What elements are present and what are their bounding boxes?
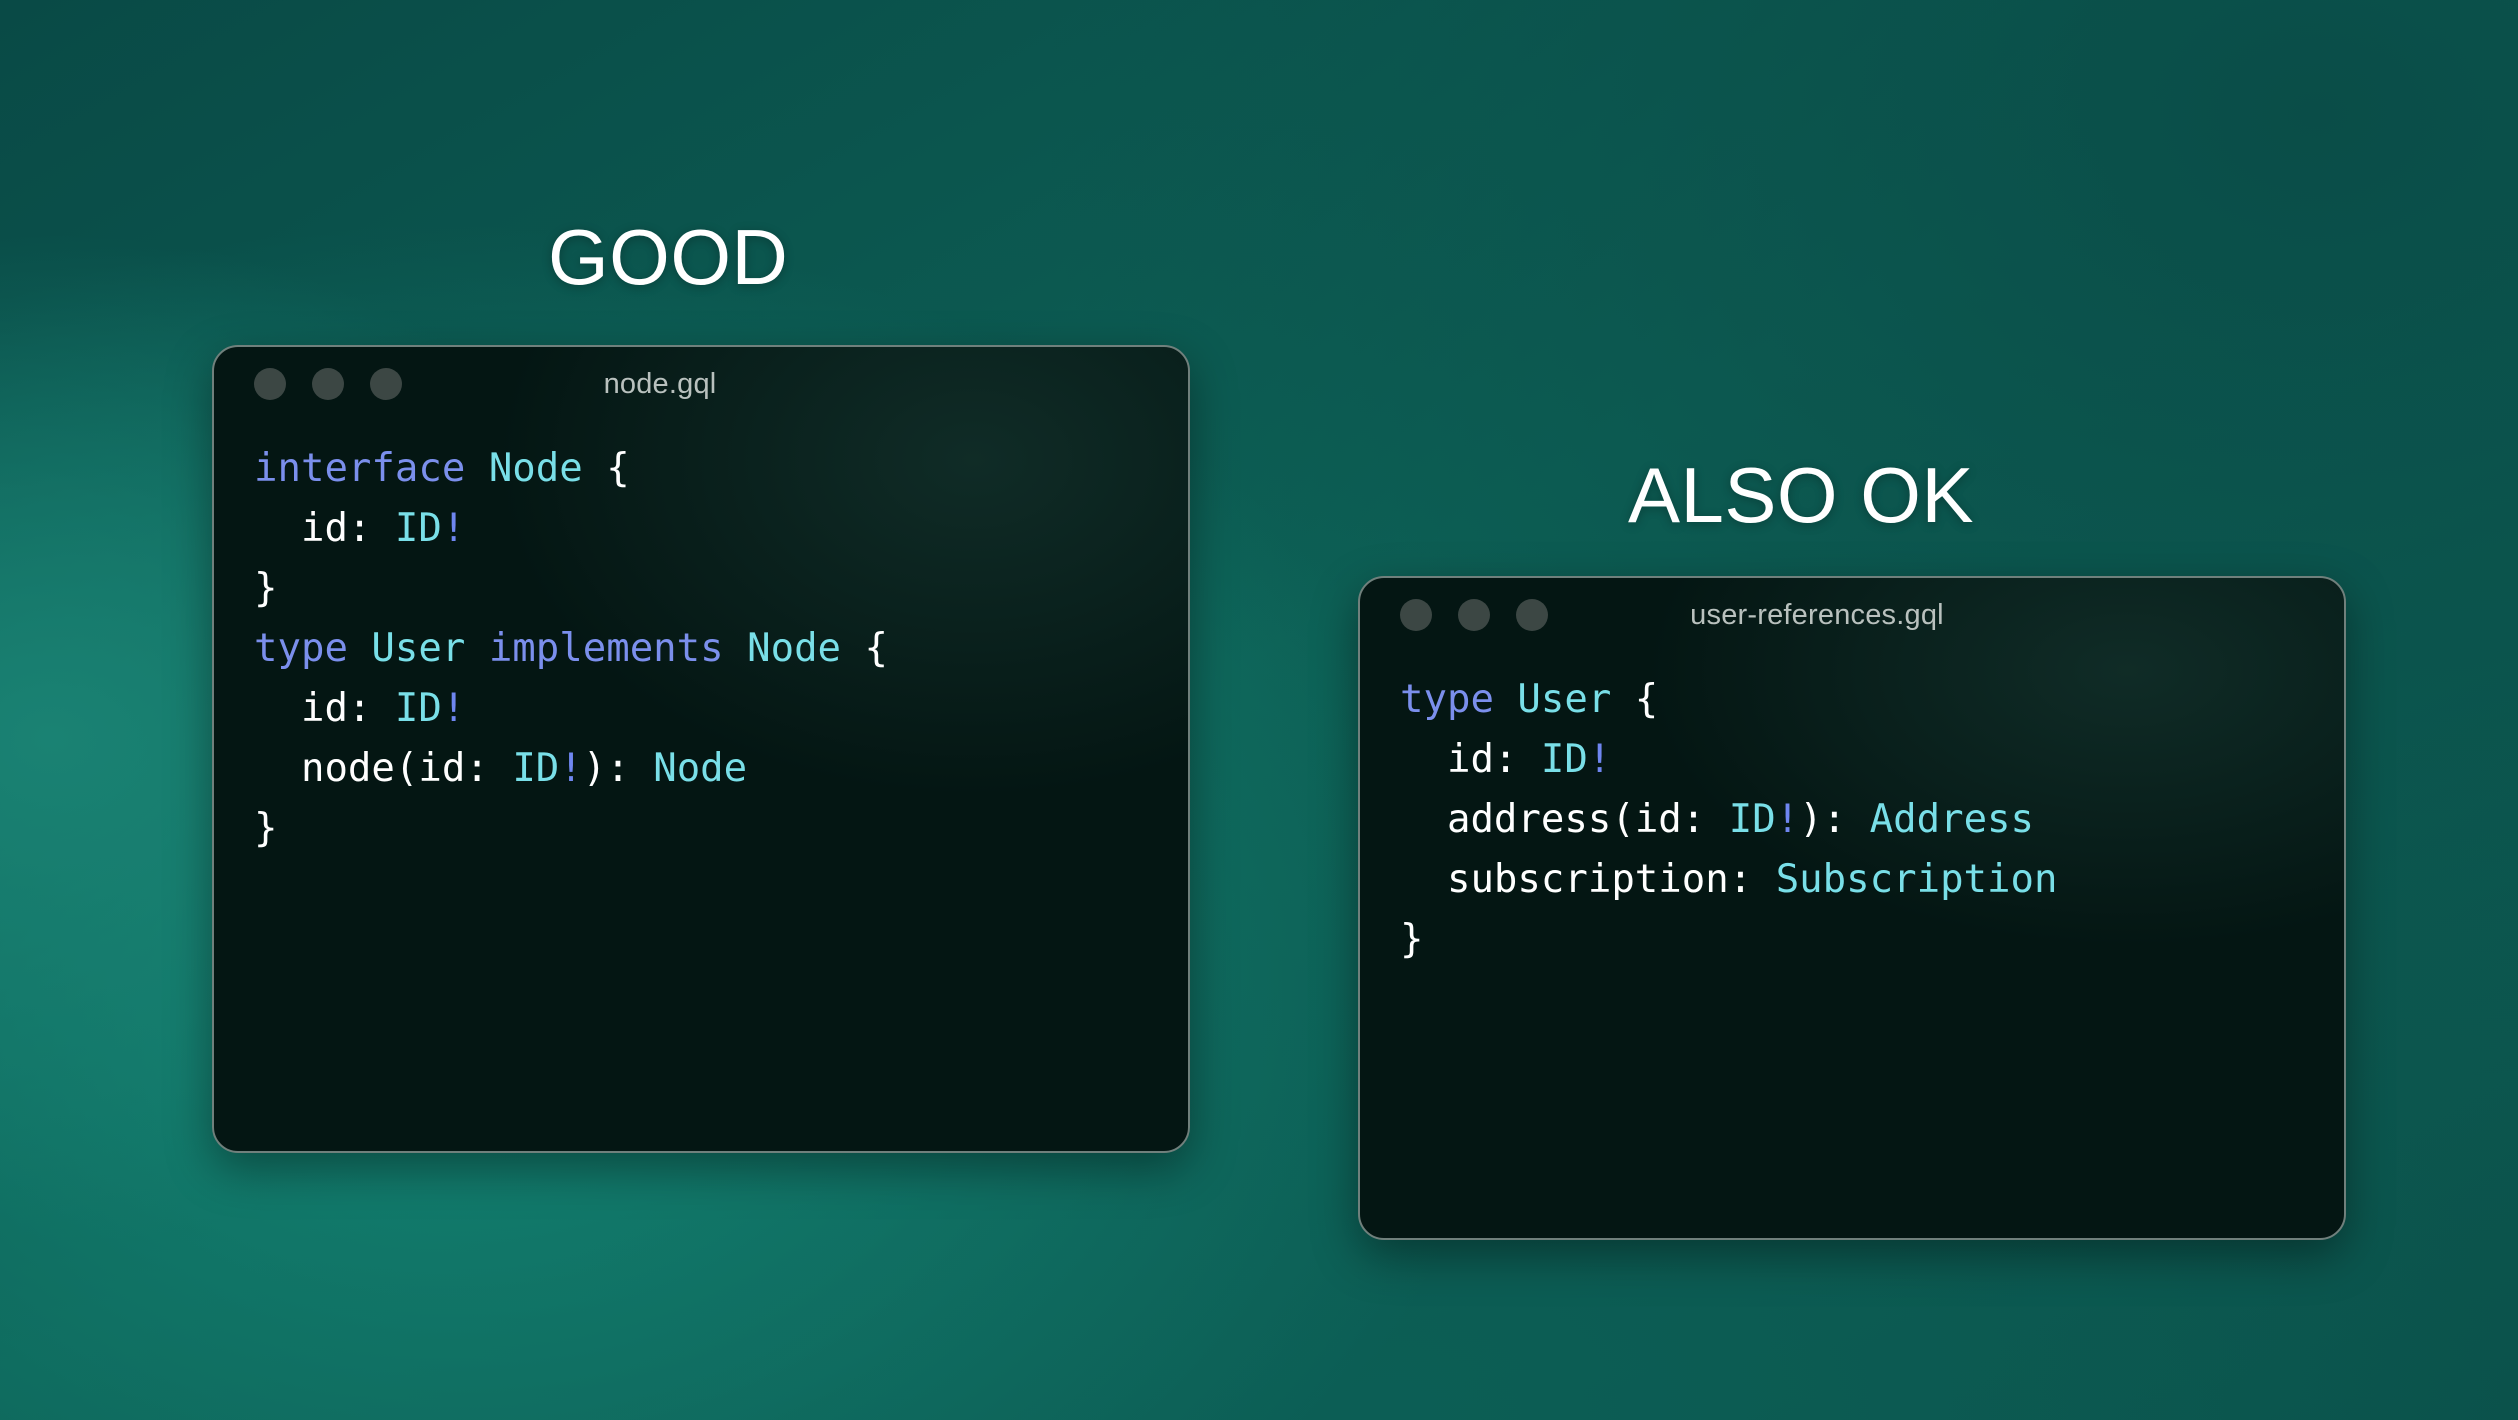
code-token: ID xyxy=(395,506,442,551)
traffic-light-dots xyxy=(254,368,402,400)
code-token: node xyxy=(254,746,395,791)
code-line: } xyxy=(254,799,1148,859)
code-line: } xyxy=(1400,910,2304,970)
code-token xyxy=(465,446,488,491)
code-token: { xyxy=(841,626,888,671)
traffic-light-dots xyxy=(1400,599,1548,631)
code-token: } xyxy=(254,806,277,851)
code-token: interface xyxy=(254,446,465,491)
code-line: address(id: ID!): Address xyxy=(1400,790,2304,850)
code-token: { xyxy=(583,446,630,491)
code-token: type xyxy=(254,626,348,671)
code-token: ( xyxy=(395,746,418,791)
window-titlebar: node.gql xyxy=(214,347,1188,421)
code-token: : xyxy=(348,686,395,731)
code-token: ID xyxy=(512,746,559,791)
code-token: ): xyxy=(583,746,653,791)
panel-heading-also-ok: ALSO OK xyxy=(1628,450,1974,541)
code-token: Node xyxy=(489,446,583,491)
code-token: } xyxy=(254,566,277,611)
maximize-dot-icon[interactable] xyxy=(370,368,402,400)
code-token: ): xyxy=(1799,797,1869,842)
code-line: node(id: ID!): Node xyxy=(254,739,1148,799)
code-token: id xyxy=(1400,737,1494,782)
code-token: : xyxy=(348,506,395,551)
code-line: id: ID! xyxy=(1400,730,2304,790)
maximize-dot-icon[interactable] xyxy=(1516,599,1548,631)
code-line: subscription: Subscription xyxy=(1400,850,2304,910)
code-token: Node xyxy=(747,626,841,671)
code-window-user-references-gql: user-references.gql type User { id: ID! … xyxy=(1358,576,2346,1240)
code-line: } xyxy=(254,559,1148,619)
code-token: type xyxy=(1400,677,1494,722)
code-token: } xyxy=(1400,917,1423,962)
code-line: id: ID! xyxy=(254,679,1148,739)
close-dot-icon[interactable] xyxy=(1400,599,1432,631)
code-token: ! xyxy=(559,746,582,791)
code-line: type User implements Node { xyxy=(254,619,1148,679)
minimize-dot-icon[interactable] xyxy=(312,368,344,400)
code-block-user-references-gql: type User { id: ID! address(id: ID!): Ad… xyxy=(1360,652,2344,1010)
code-token: implements xyxy=(489,626,724,671)
code-window-node-gql: node.gql interface Node { id: ID!}type U… xyxy=(212,345,1190,1153)
code-token: : xyxy=(1729,857,1776,902)
code-token: ! xyxy=(442,506,465,551)
code-token: User xyxy=(1517,677,1611,722)
code-token: ID xyxy=(1729,797,1776,842)
code-token: ! xyxy=(1776,797,1799,842)
code-token: address xyxy=(1400,797,1611,842)
code-token: : xyxy=(1494,737,1541,782)
code-token: ! xyxy=(442,686,465,731)
code-token: User xyxy=(371,626,465,671)
code-token: ( xyxy=(1611,797,1634,842)
code-line: interface Node { xyxy=(254,439,1148,499)
code-token: subscription xyxy=(1400,857,1729,902)
code-token xyxy=(724,626,747,671)
code-token: Subscription xyxy=(1776,857,2058,902)
code-token xyxy=(465,626,488,671)
panel-heading-good: GOOD xyxy=(548,212,788,303)
code-token: ID xyxy=(1541,737,1588,782)
code-token: : xyxy=(1682,797,1729,842)
code-token: id xyxy=(418,746,465,791)
code-line: type User { xyxy=(1400,670,2304,730)
code-token: id xyxy=(254,686,348,731)
code-token: : xyxy=(465,746,512,791)
code-line: id: ID! xyxy=(254,499,1148,559)
code-token: { xyxy=(1611,677,1658,722)
code-token: id xyxy=(254,506,348,551)
code-token: Node xyxy=(653,746,747,791)
code-token: Address xyxy=(1870,797,2034,842)
minimize-dot-icon[interactable] xyxy=(1458,599,1490,631)
window-titlebar: user-references.gql xyxy=(1360,578,2344,652)
code-token: ID xyxy=(395,686,442,731)
code-token: id xyxy=(1635,797,1682,842)
code-token: ! xyxy=(1588,737,1611,782)
code-token xyxy=(1494,677,1517,722)
code-block-node-gql: interface Node { id: ID!}type User imple… xyxy=(214,421,1188,899)
close-dot-icon[interactable] xyxy=(254,368,286,400)
code-token xyxy=(348,626,371,671)
